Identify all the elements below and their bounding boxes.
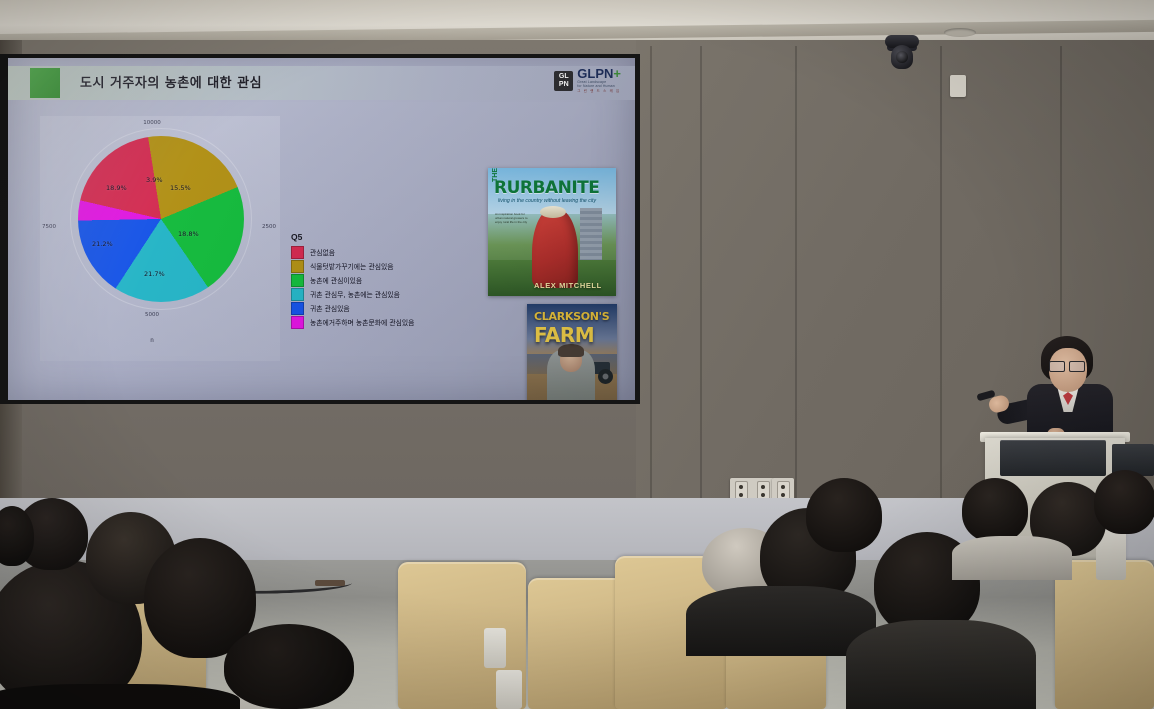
legend-item: 관심없음 (291, 245, 471, 259)
poster-title-line1: CLARKSON'S (534, 310, 609, 323)
book-person (532, 210, 578, 288)
legend-label: 농촌에 관심이있음 (310, 275, 362, 285)
axis-tick-right: 2500 (262, 224, 276, 230)
axis-tick-left: 7500 (42, 224, 56, 230)
glpn-wordmark: GLPN+ (577, 68, 621, 80)
book-subtitle: living in the country without leaving th… (498, 198, 596, 204)
glpn-sub-line3: 그 린 랜 드 스 케 입 (577, 88, 621, 93)
book-building (580, 208, 602, 264)
legend-swatch (291, 316, 304, 329)
axis-name: n (150, 338, 153, 344)
seat[interactable] (1055, 560, 1154, 709)
pie-value-label: 15.5% (170, 184, 191, 192)
slide-title: 도시 거주자의 농촌에 대한 관심 (80, 72, 262, 91)
presentation-slide: 도시 거주자의 농촌에 대한 관심 GL PN GLPN+ Great Land… (8, 58, 635, 400)
camera-lens (896, 51, 908, 63)
legend-label: 농촌에거주하며 농촌문화에 관심있음 (310, 317, 414, 327)
pie-value-label: 21.7% (144, 270, 165, 278)
projection-screen-frame: 도시 거주자의 농촌에 대한 관심 GL PN GLPN+ Great Land… (0, 54, 640, 404)
seat-armrest (496, 670, 522, 709)
legend-label: 관심없음 (310, 247, 335, 257)
audience-shoulders (0, 684, 240, 709)
wall-seam (795, 46, 797, 506)
book-blurb: An inspiration book for urban natural gr… (495, 212, 533, 224)
legend-title: Q5 (291, 232, 471, 242)
chart-legend: Q5 관심없음식물텃밭가꾸기에는 관심있음농촌에 관심이있음귀촌 관심무, 농촌… (291, 232, 471, 329)
legend-swatch (291, 274, 304, 287)
legend-swatch (291, 246, 304, 259)
legend-item: 귀촌 관심있음 (291, 301, 471, 315)
book-title: RURBANITE (494, 178, 599, 198)
pie-value-label: 18.9% (106, 184, 127, 192)
legend-label: 귀촌 관심무, 농촌에는 관심있음 (310, 289, 400, 299)
glpn-logo-line1: GL (559, 73, 569, 81)
podium-monitor[interactable] (1000, 440, 1106, 476)
glpn-plus: + (613, 66, 621, 81)
ceiling-vent (944, 28, 976, 37)
legend-label: 식물텃밭가꾸기에는 관심있음 (310, 261, 393, 271)
wall-seam (700, 46, 702, 506)
seat[interactable] (528, 578, 624, 709)
pie-value-label: 21.2% (92, 240, 113, 248)
book-author: ALEX MITCHELL (534, 281, 602, 290)
ptz-camera-icon (885, 35, 919, 81)
slide-accent-square (30, 68, 60, 98)
poster-title-line2: FARM (534, 323, 594, 347)
wall-seam (940, 46, 942, 506)
legend-swatch (291, 288, 304, 301)
legend-item: 농촌에 관심이있음 (291, 273, 471, 287)
axis-tick-bottom: 5000 (145, 312, 159, 318)
poster-clarksons-farm: CLARKSON'S FARM (527, 304, 617, 400)
axis-tick-top: 10000 (143, 120, 161, 126)
legend-rows: 관심없음식물텃밭가꾸기에는 관심있음농촌에 관심이있음귀촌 관심무, 농촌에는 … (291, 245, 471, 329)
book-person-hat (540, 206, 566, 218)
audience-head (224, 624, 354, 709)
seat-armrest (484, 628, 506, 668)
chart-panel: 10000 2500 5000 7500 n 18.9% 21.2% 21.7%… (40, 116, 280, 361)
glpn-logo: GL PN GLPN+ Great Landscape for Nature a… (554, 68, 621, 93)
spacer (430, 548, 440, 558)
floor-cable-connector (315, 580, 345, 586)
wall-sensor (950, 75, 966, 97)
wall-seam (650, 46, 652, 506)
legend-swatch (291, 260, 304, 273)
audience-shoulders (846, 620, 1036, 709)
legend-item: 농촌에거주하며 농촌문화에 관심있음 (291, 315, 471, 329)
projection-screen: 도시 거주자의 농촌에 대한 관심 GL PN GLPN+ Great Land… (8, 58, 635, 400)
legend-swatch (291, 302, 304, 315)
glasses-icon (1049, 361, 1085, 370)
pie-value-label: 3.9% (146, 176, 163, 184)
legend-label: 귀촌 관심있음 (310, 303, 350, 313)
audience-head (806, 478, 882, 552)
glpn-logo-line2: PN (559, 81, 569, 89)
audience-head (1094, 470, 1154, 534)
pie-chart: 18.9% 21.2% 21.7% 18.8% 15.5% 3.9% (78, 136, 244, 302)
audience-head (962, 478, 1028, 542)
glpn-logo-box: GL PN (554, 71, 573, 91)
legend-item: 식물텃밭가꾸기에는 관심있음 (291, 259, 471, 273)
glpn-wordmark-group: GLPN+ Great Landscape for Nature and Hum… (577, 68, 621, 93)
pie-value-label: 18.8% (178, 230, 199, 238)
legend-item: 귀촌 관심무, 농촌에는 관심있음 (291, 287, 471, 301)
book-cover-rurbanite: THE RURBANITE living in the country with… (488, 168, 616, 296)
audience-shoulders (686, 586, 876, 656)
lecture-hall-photo: 도시 거주자의 농촌에 대한 관심 GL PN GLPN+ Great Land… (0, 0, 1154, 709)
audience-shoulders (952, 536, 1072, 580)
